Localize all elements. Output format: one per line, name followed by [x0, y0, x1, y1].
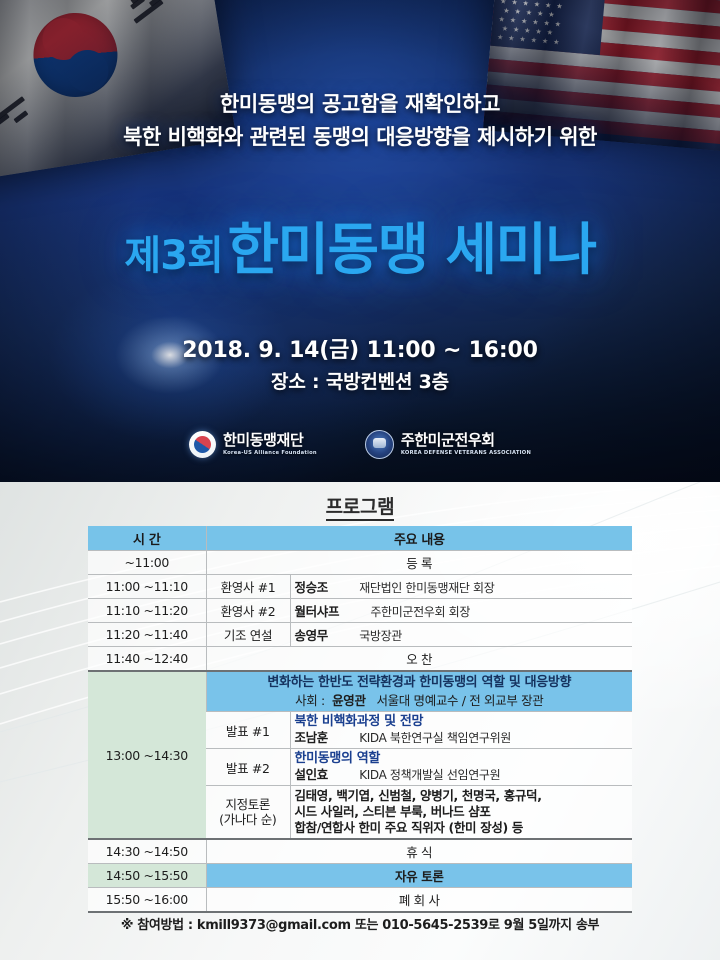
cell-role: 환영사 #2 [206, 599, 290, 623]
cell-panel-names: 김태영, 백기엽, 신범철, 양병기, 천명국, 홍규덕, 시드 사일러, 스티… [290, 786, 632, 840]
session-time-label: 13:00 ~14:30 [92, 748, 202, 763]
presentation-title: 북한 비핵화과정 및 전망 [295, 714, 629, 730]
speaker-name: 정승조 [295, 580, 328, 595]
moderator-name: 윤영관 [332, 693, 365, 708]
cell-content: 휴 식 [206, 839, 632, 864]
event-datetime: 2018. 9. 14(금) 11:00 ~ 16:00 [0, 332, 720, 364]
column-header-content: 주요 내용 [206, 526, 632, 551]
cell-session-title: 변화하는 한반도 전략환경과 한미동맹의 역할 및 대응방향 사회 : 윤영관 … [206, 671, 632, 712]
panel-label-line-1: 지정토론 [210, 797, 286, 812]
table-row: 11:40 ~12:40 오 찬 [88, 647, 632, 672]
speaker-name: 송영무 [295, 628, 328, 643]
speaker-name: 월터샤프 [295, 604, 340, 619]
cell-time: 11:20 ~11:40 [88, 623, 206, 647]
cell-time: ~11:00 [88, 551, 206, 575]
event-venue: 장소 : 국방컨벤션 3층 [0, 367, 720, 394]
moderator-affiliation: 서울대 명예교수 / 전 외교부 장관 [376, 693, 543, 708]
program-table: 시 간 주요 내용 ~11:00 등 록 11:00 ~11:10 환영사 #1… [88, 526, 632, 913]
cell-role: 기조 연설 [206, 623, 290, 647]
cell-time: 15:50 ~16:00 [88, 888, 206, 913]
cell-presentation-label: 발표 #2 [206, 749, 290, 786]
column-header-time: 시 간 [88, 526, 206, 551]
logo-label-ko: 주한미군전우회 [401, 433, 531, 448]
table-header-row: 시 간 주요 내용 [88, 526, 632, 551]
table-row: ~11:00 등 록 [88, 551, 632, 575]
cell-time: 14:50 ~15:50 [88, 864, 206, 888]
table-row: 15:50 ~16:00 폐 회 사 [88, 888, 632, 913]
program-section: 프로그램 시 간 주요 내용 ~11:00 등 록 11:00 ~11:10 [0, 482, 720, 960]
cell-presentation-body: 한미동맹의 역할 설인효 KIDA 정책개발실 선임연구원 [290, 749, 632, 786]
speaker-affiliation: 주한미군전우회 회장 [370, 605, 470, 619]
moderator-label: 사회 : [295, 693, 325, 708]
speaker-name: 조남훈 [295, 730, 328, 745]
cell-speaker: 송영무 국방장관 [290, 623, 632, 647]
speaker-name: 설인효 [295, 767, 328, 782]
participation-footnote: ※ 참여방법 : kmill9373@gmail.com 또는 010-5645… [0, 914, 720, 933]
seminar-poster: ★★★★★★ ★★★★★ ★★★★★★ ★★★★★ ★★★★★★ ★★★★★ ★… [0, 0, 720, 960]
table-row: 14:30 ~14:50 휴 식 [88, 839, 632, 864]
title-main: 한미동맹 세미나 [227, 218, 595, 283]
presentation-speaker: 조남훈 KIDA 북한연구실 책임연구위원 [295, 730, 629, 746]
cell-presentation-label: 발표 #1 [206, 712, 290, 749]
cell-speaker: 정승조 재단법인 한미동맹재단 회장 [290, 575, 632, 599]
emblem-shield-icon [365, 430, 394, 459]
logo-label-en: KOREA DEFENSE VETERANS ASSOCIATION [401, 451, 531, 456]
logo-label-ko: 한미동맹재단 [223, 433, 317, 448]
subtitle-line-1: 한미동맹의 공고함을 재확인하고 [0, 88, 720, 120]
cell-role: 환영사 #1 [206, 575, 290, 599]
cell-content: 폐 회 사 [206, 888, 632, 913]
organizer-logos: 한미동맹재단 Korea-US Alliance Foundation 주한미군… [0, 430, 720, 459]
logo-korea-defense-veterans-association: 주한미군전우회 KOREA DEFENSE VETERANS ASSOCIATI… [365, 430, 531, 459]
session-moderator: 사회 : 윤영관 서울대 명예교수 / 전 외교부 장관 [211, 692, 629, 709]
cell-time: 11:40 ~12:40 [88, 647, 206, 672]
session-title: 변화하는 한반도 전략환경과 한미동맹의 역할 및 대응방향 [267, 675, 571, 690]
subtitle-line-2: 북한 비핵화와 관련된 동맹의 대응방향을 제시하기 위한 [0, 120, 720, 154]
table-row-highlighted: 14:50 ~15:50 자유 토론 [88, 864, 632, 888]
subtitle: 한미동맹의 공고함을 재확인하고 북한 비핵화와 관련된 동맹의 대응방향을 제… [0, 88, 720, 154]
panel-label-line-2: (가나다 순) [210, 812, 286, 827]
logo-korea-us-alliance-foundation: 한미동맹재단 Korea-US Alliance Foundation [189, 431, 317, 458]
cell-content: 자유 토론 [206, 864, 632, 888]
table-row: 11:20 ~11:40 기조 연설 송영무 국방장관 [88, 623, 632, 647]
cell-time: 11:10 ~11:20 [88, 599, 206, 623]
speaker-affiliation: 국방장관 [359, 629, 402, 643]
speaker-affiliation: KIDA 북한연구실 책임연구위원 [359, 731, 511, 745]
cell-time: 11:00 ~11:10 [88, 575, 206, 599]
panel-names-line-1: 김태영, 백기엽, 신범철, 양병기, 천명국, 홍규덕, [295, 788, 629, 804]
table-row: 11:10 ~11:20 환영사 #2 월터샤프 주한미군전우회 회장 [88, 599, 632, 623]
program-heading: 프로그램 [0, 492, 720, 519]
cell-panel-label: 지정토론 (가나다 순) [206, 786, 290, 840]
panel-names-line-3: 합참/연합사 한미 주요 직위자 (한미 장성) 등 [295, 820, 629, 836]
hero-banner: ★★★★★★ ★★★★★ ★★★★★★ ★★★★★ ★★★★★★ ★★★★★ ★… [0, 0, 720, 482]
presentation-title: 한미동맹의 역할 [295, 751, 629, 767]
session-header-row: 13:00 ~14:30 변화하는 한반도 전략환경과 한미동맹의 역할 및 대… [88, 671, 632, 712]
speaker-affiliation: 재단법인 한미동맹재단 회장 [359, 581, 494, 595]
table-row: 11:00 ~11:10 환영사 #1 정승조 재단법인 한미동맹재단 회장 [88, 575, 632, 599]
panel-names-line-2: 시드 사일러, 스티븐 부룩, 버나드 샴포 [295, 804, 629, 820]
title-prefix: 제3회 [124, 233, 222, 279]
page-title: 제3회 한미동맹 세미나 [0, 205, 720, 286]
cell-session-time: 13:00 ~14:30 [88, 671, 206, 839]
logo-label-en: Korea-US Alliance Foundation [223, 451, 317, 456]
cell-time: 14:30 ~14:50 [88, 839, 206, 864]
cell-speaker: 월터샤프 주한미군전우회 회장 [290, 599, 632, 623]
cell-content: 오 찬 [206, 647, 632, 672]
speaker-affiliation: KIDA 정책개발실 선임연구원 [359, 768, 500, 782]
taeguk-circle-icon [189, 431, 216, 458]
presentation-speaker: 설인효 KIDA 정책개발실 선임연구원 [295, 767, 629, 783]
cell-presentation-body: 북한 비핵화과정 및 전망 조남훈 KIDA 북한연구실 책임연구위원 [290, 712, 632, 749]
cell-content: 등 록 [206, 551, 632, 575]
